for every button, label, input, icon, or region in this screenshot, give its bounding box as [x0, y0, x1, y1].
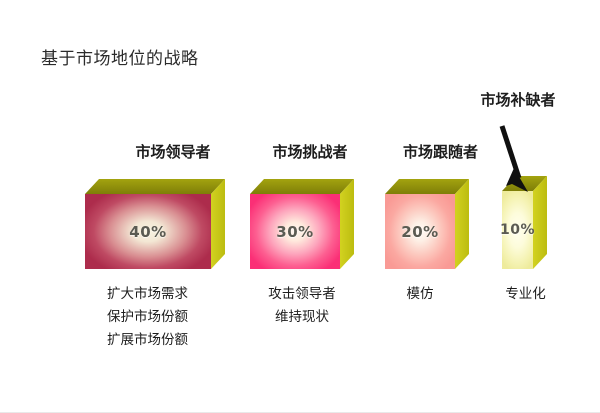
descriptions-market-follower: 模仿 — [375, 283, 465, 306]
bar-side-face-market-leader — [211, 178, 225, 270]
page-title: 基于市场地位的战略 — [41, 48, 199, 70]
descriptions-market-leader: 扩大市场需求 保护市场份额 扩展市场份额 — [60, 283, 235, 352]
bar-market-challenger: 30% — [250, 178, 354, 270]
bar-front-face-market-leader: 40% — [85, 194, 211, 269]
bar-side-face-market-follower — [455, 178, 469, 270]
description-item: 扩展市场份额 — [60, 329, 235, 352]
descriptions-market-challenger: 攻击领导者 维持现状 — [242, 283, 362, 329]
value-label-market-challenger: 30% — [276, 223, 313, 241]
bar-front-face-market-nicher: 10% — [502, 191, 533, 269]
description-item: 维持现状 — [242, 306, 362, 329]
bar-market-follower: 20% — [385, 178, 469, 270]
description-item: 模仿 — [375, 283, 465, 306]
bar-front-face-market-challenger: 30% — [250, 194, 340, 269]
description-item: 专业化 — [478, 283, 573, 306]
bar-side-face-market-challenger — [340, 178, 354, 270]
description-item: 保护市场份额 — [60, 306, 235, 329]
value-label-market-nicher: 10% — [500, 222, 535, 238]
category-header-market-follower: 市场跟随者 — [383, 143, 498, 161]
category-header-market-nicher: 市场补缺者 — [458, 91, 578, 109]
category-header-market-challenger: 市场挑战者 — [250, 143, 370, 161]
description-item: 攻击领导者 — [242, 283, 362, 306]
description-item: 扩大市场需求 — [60, 283, 235, 306]
value-label-market-follower: 20% — [401, 223, 438, 241]
bar-market-leader: 40% — [85, 178, 225, 270]
diagram-canvas: 基于市场地位的战略 市场领导者 市场挑战者 市场跟随者 市场补缺者 — [0, 0, 600, 413]
bar-front-face-market-follower: 20% — [385, 194, 455, 269]
arrow-pointing-to-niche-block-icon — [488, 120, 548, 200]
value-label-market-leader: 40% — [129, 223, 166, 241]
descriptions-market-nicher: 专业化 — [478, 283, 573, 306]
category-header-market-leader: 市场领导者 — [113, 143, 233, 161]
